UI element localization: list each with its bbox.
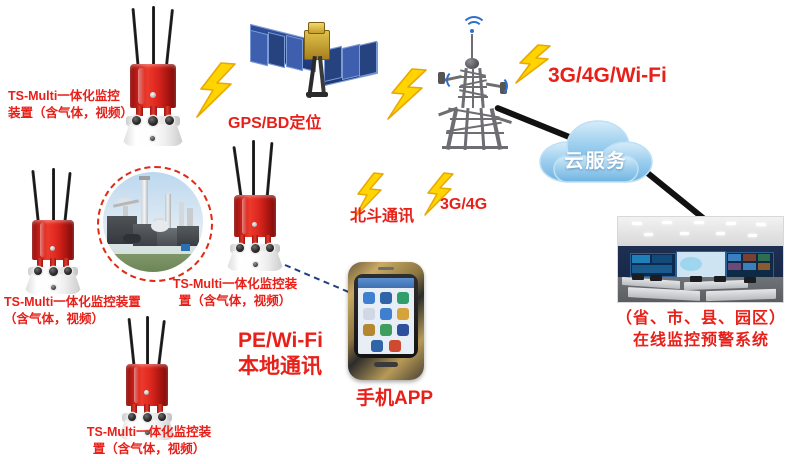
cell-tower-icon — [432, 14, 520, 154]
local-link-label: PE/Wi-Fi 本地通讯 — [238, 328, 388, 381]
device-left[interactable] — [14, 168, 94, 296]
control-center-photo — [617, 216, 784, 303]
gps-link-label: GPS/BD定位 — [228, 113, 368, 135]
bolt-device-to-satellite — [191, 62, 239, 118]
bolt-satellite-to-tower — [382, 68, 430, 120]
phone-app-label: 手机APP — [356, 386, 456, 412]
device-top[interactable] — [110, 6, 198, 146]
device-bottom[interactable] — [110, 316, 190, 440]
device-bottom-label: TS-Multi一体化监控装 置（含气体，视频） — [64, 424, 234, 458]
device-middle-label: TS-Multi一体化监控装 置（含气体，视频） — [160, 276, 310, 310]
device-middle[interactable] — [218, 140, 298, 270]
control-center-label: （省、市、县、园区） 在线监控预警系统 — [608, 308, 794, 351]
mobile-3g4g-label: 3G/4G — [440, 194, 530, 216]
satellite-icon — [246, 8, 378, 108]
device-top-label: TS-Multi一体化监控 装置（含气体，视频） — [8, 88, 138, 122]
plant-highlight-circle — [97, 166, 213, 282]
cloud-service-node[interactable]: 云服务 — [536, 116, 656, 188]
cloud-label: 云服务 — [536, 146, 656, 173]
mobile-3g4g-wifi-label: 3G/4G/Wi-Fi — [548, 62, 748, 90]
diagram-canvas: 云服务 — [0, 0, 797, 464]
